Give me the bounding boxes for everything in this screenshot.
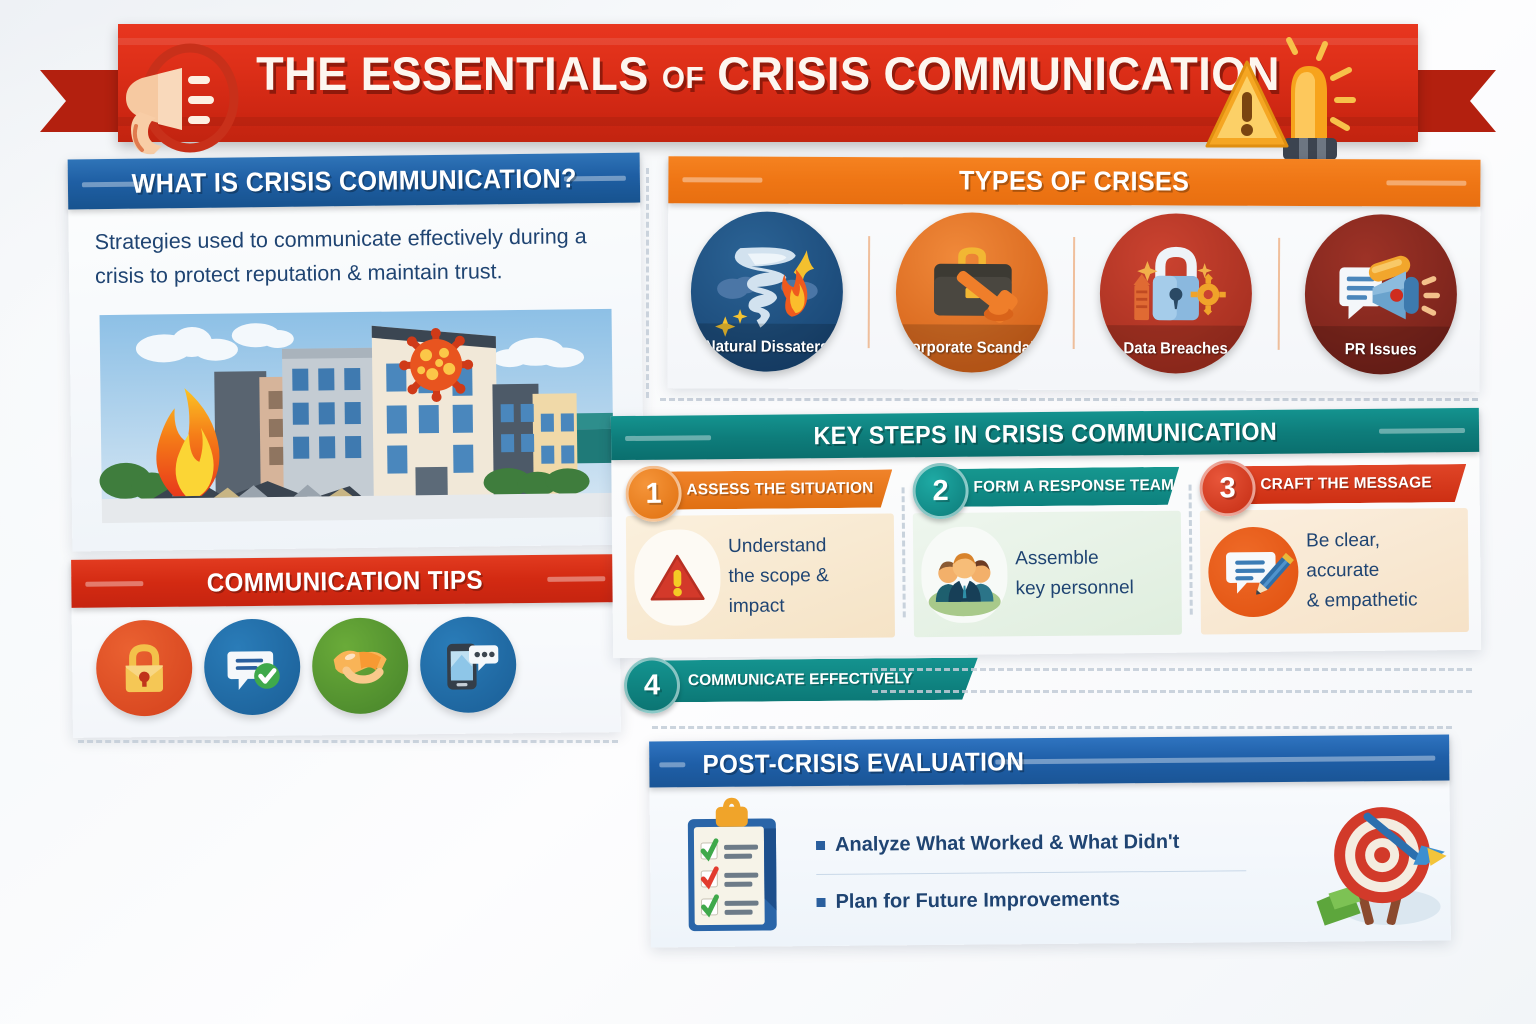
communication-tips-heading: Communication Tips	[190, 564, 500, 598]
key-step-4[interactable]: 4 Communicate Effectively	[620, 648, 1476, 713]
step-3-line-1: Be clear,	[1306, 525, 1417, 556]
step-2-line-1: Assemble	[1015, 543, 1134, 574]
lock-envelope-icon[interactable]	[96, 620, 193, 717]
key-steps-heading-bar: Key Steps in Crisis Communication	[611, 408, 1479, 460]
what-is-panel: What is Crisis Communication? Strategies…	[68, 153, 645, 552]
title-part-of: of	[662, 60, 704, 95]
step-1-body: Understand the scope & impact	[626, 513, 895, 640]
step-2-body: Assemble key personnel	[913, 511, 1182, 638]
crisis-type-corporate-scandals[interactable]: Corporate Scandals	[895, 212, 1048, 373]
crisis-type-label: Data Breaches	[1105, 325, 1248, 374]
bullet-square-icon	[816, 841, 825, 850]
key-step-1[interactable]: 1 Assess the Situation Understand the sc…	[625, 467, 895, 640]
step-4-title: Communicate Effectively	[660, 658, 978, 703]
post-crisis-body: Analyze What Worked & What Didn't Plan f…	[650, 781, 1451, 956]
what-is-heading-bar: What is Crisis Communication?	[68, 153, 641, 210]
types-heading: Types of Crises	[942, 165, 1206, 197]
communication-tips-panel: Communication Tips	[71, 554, 621, 738]
communication-tips-icons	[72, 602, 621, 717]
crisis-type-label: Natural Dissaters	[695, 323, 838, 372]
divider-step4-b	[872, 690, 1472, 693]
step-1-line-1: Understand	[728, 531, 886, 563]
step-1-number: 1	[625, 465, 682, 522]
types-of-crises-panel: Types of Crises	[667, 156, 1480, 392]
crisis-separator	[1277, 238, 1279, 350]
divider-tips-bottom	[78, 740, 618, 743]
what-is-text: Strategies used to communicate effective…	[94, 219, 615, 293]
step-2-header: 2 Form a Response Team	[912, 465, 1180, 510]
crisis-type-data-breaches[interactable]: Data Breaches	[1100, 213, 1253, 374]
divider-left-right	[646, 168, 649, 398]
burning-city-virus-illustration	[95, 305, 618, 526]
step-3-text: Be clear, accurate & empathetic	[1306, 525, 1418, 616]
step-2-line-2: key personnel	[1015, 573, 1134, 604]
step-2-number: 2	[912, 463, 969, 520]
megaphone-icon	[102, 46, 287, 161]
post-crisis-item-1-label: Analyze What Worked & What Didn't	[835, 831, 1180, 857]
warning-triangle-icon	[634, 529, 721, 626]
crisis-separator	[1073, 237, 1075, 349]
step-2-text: Assemble key personnel	[1015, 543, 1134, 604]
crisis-type-natural-disasters[interactable]: Natural Dissaters	[690, 211, 843, 372]
what-is-heading: What is Crisis Communication?	[114, 163, 593, 200]
heading-dash-right	[995, 755, 1435, 764]
step-3-header: 3 Craft the Message	[1199, 462, 1467, 507]
key-step-2[interactable]: 2 Form a Response Team	[912, 465, 1182, 638]
key-step-3[interactable]: 3 Craft the Message	[1199, 462, 1469, 635]
target-dart-icon	[1294, 789, 1445, 938]
step-4-number: 4	[624, 657, 680, 713]
step-3-number: 3	[1199, 460, 1256, 517]
step-1-header: 1 Assess the Situation	[625, 467, 893, 512]
crisis-type-label: Corporate Scandals	[900, 324, 1043, 373]
key-steps-panel: Key Steps in Crisis Communication 1 Asse…	[611, 408, 1481, 658]
key-steps-row: 1 Assess the Situation Understand the sc…	[611, 452, 1481, 640]
heading-dash-right	[1379, 427, 1465, 433]
step-1-text: Understand the scope & impact	[728, 531, 887, 623]
team-people-icon	[921, 526, 1008, 623]
clipboard-checklist-icon	[668, 798, 797, 939]
heading-dash-right	[1386, 180, 1466, 185]
step-3-body: Be clear, accurate & empathetic	[1200, 508, 1469, 635]
mobile-chat-icon[interactable]	[420, 616, 517, 713]
bullet-square-icon	[816, 898, 825, 907]
post-crisis-item-2-label: Plan for Future Improvements	[835, 888, 1120, 913]
heading-dash-left	[625, 435, 711, 441]
crisis-separator	[868, 236, 870, 348]
divider-postcrisis-top	[652, 726, 1452, 729]
types-heading-bar: Types of Crises	[668, 156, 1480, 207]
chat-check-icon[interactable]	[204, 618, 301, 715]
heading-dash-left	[85, 581, 143, 587]
title-ribbon: The Essentials of Crisis Communication	[40, 24, 1496, 146]
crisis-type-label: PR Issues	[1309, 326, 1452, 375]
key-steps-heading: Key Steps in Crisis Communication	[796, 417, 1293, 451]
crisis-type-pr-issues[interactable]: PR Issues	[1305, 214, 1458, 375]
heading-dash-right	[547, 576, 605, 582]
post-crisis-heading: Post-Crisis Evaluation	[663, 746, 1041, 780]
handshake-icon[interactable]	[312, 617, 409, 714]
step-1-line-2: the scope & impact	[728, 561, 887, 623]
post-crisis-heading-bar: Post-Crisis Evaluation	[649, 735, 1449, 788]
types-row: Natural Dissaters	[668, 203, 1481, 375]
step-separator	[1189, 485, 1193, 615]
step-separator	[902, 487, 906, 617]
step-1-title: Assess the Situation	[665, 469, 893, 509]
infographic-canvas: The Essentials of Crisis Communication	[0, 0, 1536, 1024]
communication-tips-heading-bar: Communication Tips	[71, 554, 619, 608]
step-2-title: Form a Response Team	[952, 467, 1180, 507]
title-part-1: The Essentials	[256, 47, 649, 100]
step-3-title: Craft the Message	[1239, 464, 1467, 504]
divider-step4-a	[872, 668, 1472, 671]
step-3-line-2: accurate	[1306, 555, 1417, 586]
speech-bubble-pencil-icon	[1208, 527, 1299, 618]
what-is-body: Strategies used to communicate effective…	[68, 203, 641, 294]
post-crisis-panel: Post-Crisis Evaluation	[649, 735, 1451, 948]
heading-dash-left	[682, 177, 762, 182]
divider-types-bottom	[660, 398, 1478, 401]
step-3-line-3: & empathetic	[1307, 585, 1418, 616]
siren-light-icon	[1191, 38, 1366, 163]
